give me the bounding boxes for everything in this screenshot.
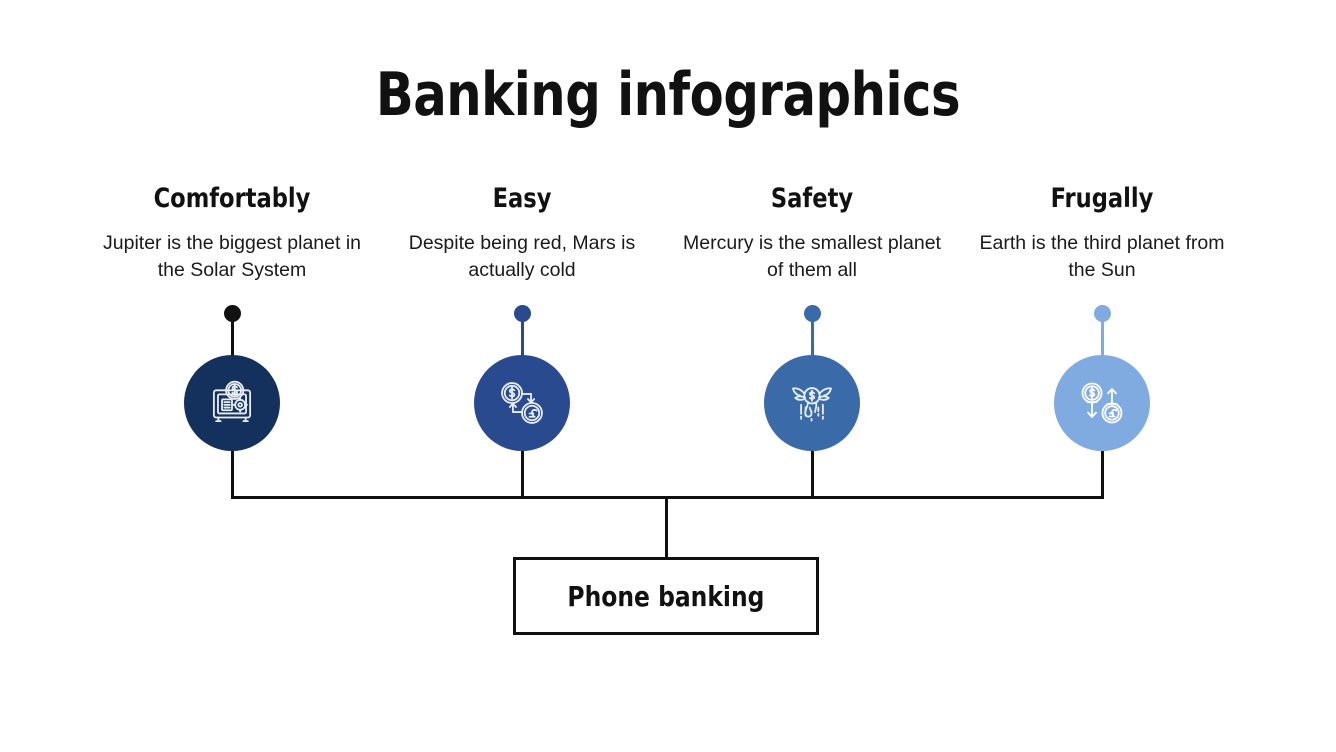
column-3-connector-stem xyxy=(811,316,814,358)
column-3-heading: Safety xyxy=(686,184,939,214)
connector-drop-2 xyxy=(521,451,524,499)
column-3-body: Mercury is the smallest planet of them a… xyxy=(676,230,948,284)
column-4-connector-stem xyxy=(1101,316,1104,358)
connector-spine xyxy=(665,496,668,557)
column-2-icon-circle[interactable] xyxy=(474,355,570,451)
column-1: Comfortably Jupiter is the biggest plane… xyxy=(96,184,368,284)
phone-banking-label: Phone banking xyxy=(568,580,765,613)
connector-drop-4 xyxy=(1101,451,1104,499)
page-title: Banking infographics xyxy=(53,64,1282,127)
column-4-icon-circle[interactable] xyxy=(1054,355,1150,451)
column-3-icon-circle[interactable] xyxy=(764,355,860,451)
column-4-body: Earth is the third planet from the Sun xyxy=(966,230,1238,284)
column-4: Frugally Earth is the third planet from … xyxy=(966,184,1238,284)
phone-banking-box[interactable]: Phone banking xyxy=(513,557,819,635)
slide-canvas: Banking infographics Comfortably Jupiter… xyxy=(0,0,1336,752)
column-1-body: Jupiter is the biggest planet in the Sol… xyxy=(96,230,368,284)
column-2-connector-stem xyxy=(521,316,524,358)
column-3: Safety Mercury is the smallest planet of… xyxy=(676,184,948,284)
column-2-body: Despite being red, Mars is actually cold xyxy=(386,230,658,284)
winged-money-flying-icon xyxy=(783,374,841,432)
column-1-icon-circle[interactable] xyxy=(184,355,280,451)
column-2-heading: Easy xyxy=(396,184,649,214)
column-2: Easy Despite being red, Mars is actually… xyxy=(386,184,658,284)
column-1-connector-stem xyxy=(231,316,234,358)
safe-vault-dollar-icon xyxy=(203,374,261,432)
connector-drop-1 xyxy=(231,451,234,499)
currency-exchange-dollar-pound-icon xyxy=(493,374,551,432)
connector-drop-3 xyxy=(811,451,814,499)
column-4-heading: Frugally xyxy=(976,184,1229,214)
currency-rate-up-down-icon xyxy=(1073,374,1131,432)
column-1-heading: Comfortably xyxy=(106,184,359,214)
